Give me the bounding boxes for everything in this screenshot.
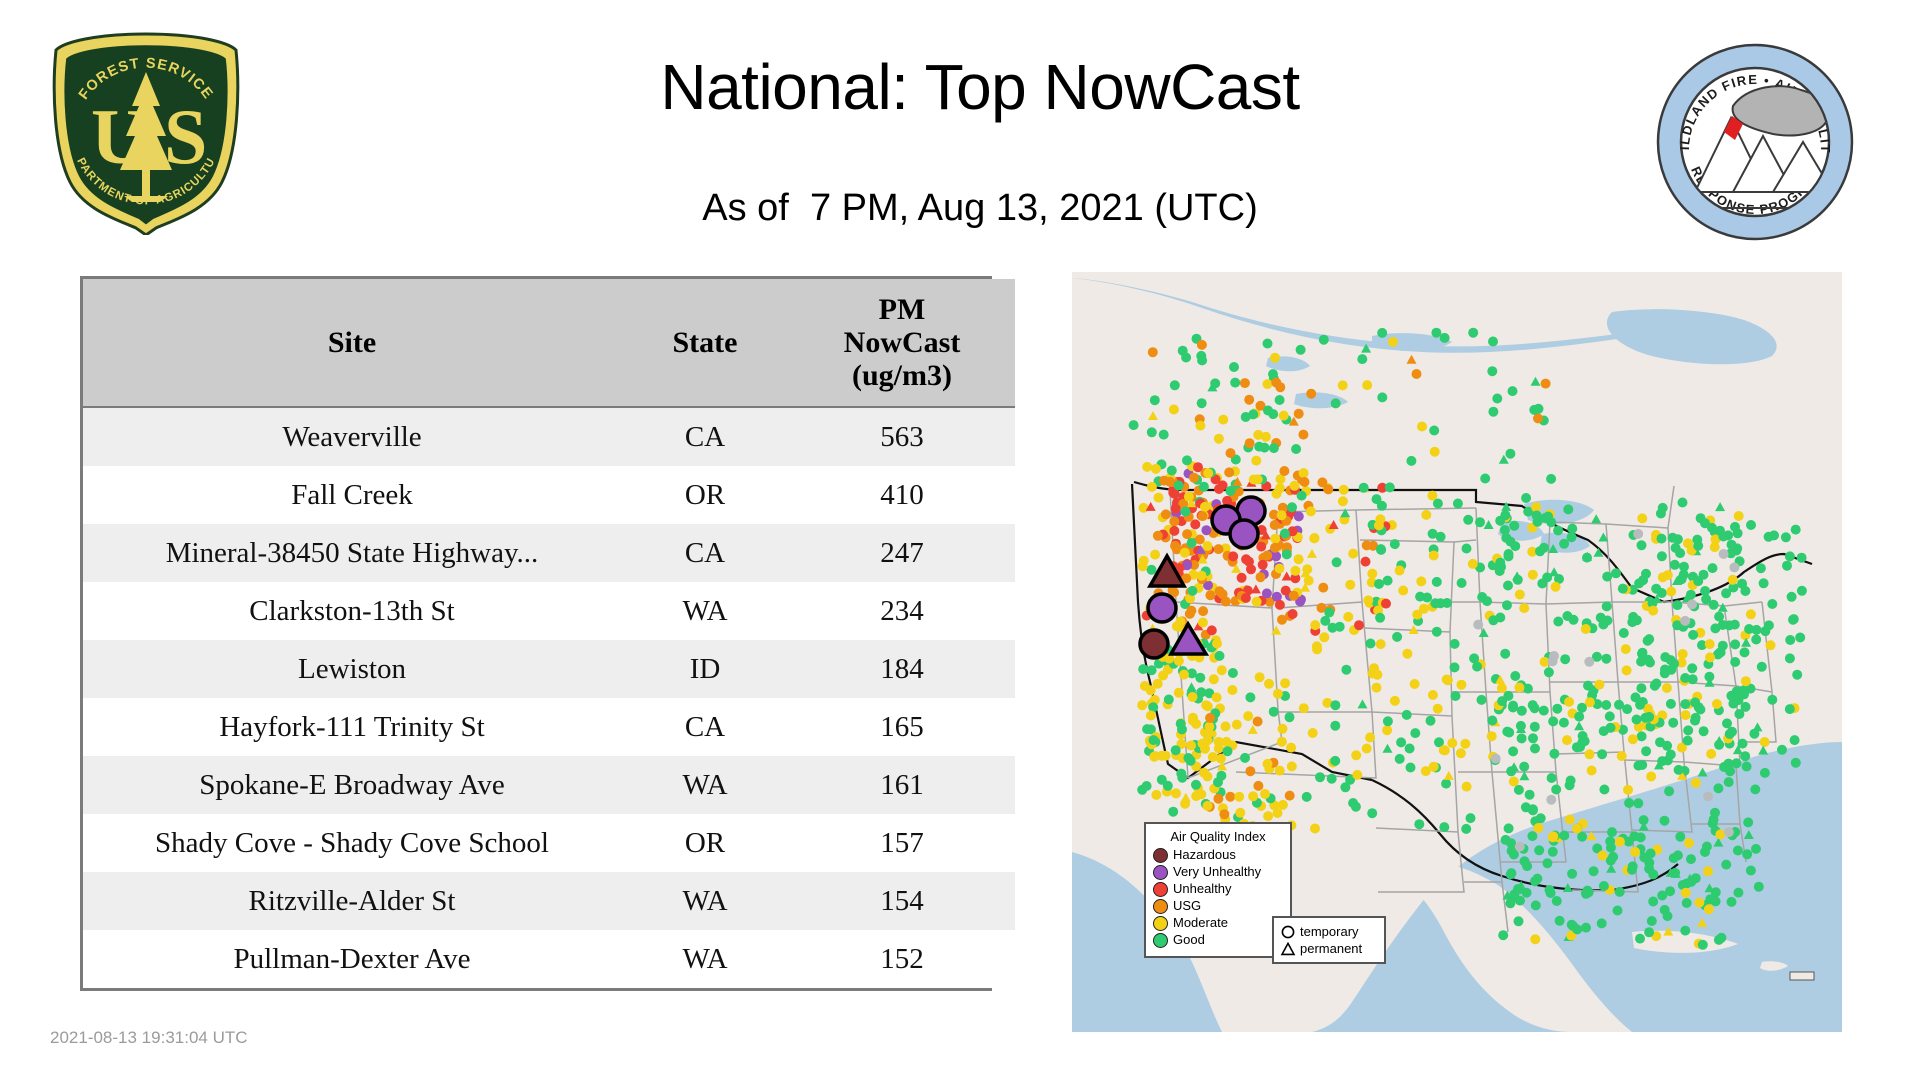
monitor-dot [1668,718,1678,728]
monitor-dot [1256,542,1266,552]
monitor-dot [1186,741,1196,751]
monitor-dot [1648,897,1658,907]
monitor-dot [1713,783,1723,793]
monitor-dot [1487,366,1497,376]
monitor-dot [1559,831,1569,841]
monitor-dot-nodata [1549,651,1559,661]
monitor-dot [1264,679,1274,689]
monitor-dot [1277,510,1287,520]
monitor-dot [1376,545,1386,555]
monitor-dot [1673,534,1683,544]
monitor-dot [1197,571,1207,581]
monitor-dot [1514,683,1524,693]
monitor-dot [1174,688,1184,698]
monitor-dot [1287,761,1297,771]
monitor-dot [1646,772,1656,782]
monitor-dot [1641,569,1651,579]
monitor-dot [1477,592,1487,602]
monitor-dot [1159,430,1169,440]
cell-state: WA [621,756,789,814]
monitor-dot [1270,534,1280,544]
monitor-dot [1372,683,1382,693]
cell-state: CA [621,407,789,466]
cell-state: OR [621,814,789,872]
monitor-dot [1715,829,1725,839]
monitor-dot [1228,668,1238,678]
monitor-dot-nodata [1724,827,1734,837]
monitor-dot [1751,844,1761,854]
monitor-dot [1450,639,1460,649]
monitor-dot [1161,751,1171,761]
monitor-dot [1751,635,1761,645]
monitor-dot [1488,615,1498,625]
monitor-dot [1759,578,1769,588]
monitor-dot [1656,509,1666,519]
monitor-dot [1509,850,1519,860]
monitor-dot [1506,766,1516,776]
monitor-dot [1198,606,1208,616]
monitor-dot [1710,623,1720,633]
page-subtitle: As of 7 PM, Aug 13, 2021 (UTC) [420,185,1540,231]
monitor-dot [1777,745,1787,755]
monitor-dot [1255,672,1265,682]
table-row[interactable]: LewistonID184 [83,640,1015,698]
monitor-dot [1189,473,1199,483]
table-row[interactable]: Shady Cove - Shady Cove SchoolOR157 [83,814,1015,872]
monitor-dot [1500,510,1510,520]
monitor-dot [1263,811,1273,821]
monitor-dot [1456,748,1466,758]
monitor-dot [1637,513,1647,523]
monitor-dot [1534,845,1544,855]
monitor-dot [1505,898,1515,908]
cell-state: CA [621,524,789,582]
monitor-dot [1683,736,1693,746]
monitor-dot [1666,699,1676,709]
monitor-dot [1429,426,1439,436]
monitor-dot [1608,852,1618,862]
monitor-dot [1787,592,1797,602]
monitor-dot [1660,665,1670,675]
cell-site: Hayfork-111 Trinity St [83,698,621,756]
monitor-dot [1521,493,1531,503]
monitor-dot [1581,624,1591,634]
cell-state: ID [621,640,789,698]
monitor-dot [1530,934,1540,944]
site-type-legend: temporary permanent [1272,916,1386,964]
monitor-dot [1184,492,1194,502]
monitor-dot [1248,409,1258,419]
monitor-dot [1693,541,1703,551]
monitor-dot [1426,716,1436,726]
aqi-color-swatch [1153,865,1168,880]
monitor-dot [1219,809,1229,819]
monitor-dot [1785,551,1795,561]
monitor-dot [1436,532,1446,542]
table-row[interactable]: Hayfork-111 Trinity StCA165 [83,698,1015,756]
monitor-dot [1488,337,1498,347]
monitor-dot [1330,721,1340,731]
monitor-dot [1675,548,1685,558]
legend-label-permanent: permanent [1300,940,1362,957]
monitor-dot [1147,665,1157,675]
legend-row-temporary: temporary [1280,923,1378,940]
monitor-dot [1527,831,1537,841]
monitor-dot [1730,657,1740,667]
monitor-dot [1223,746,1233,756]
monitor-dot [1275,766,1285,776]
monitor-dot [1785,635,1795,645]
monitor-dot [1270,353,1280,363]
monitor-dot [1204,728,1214,738]
cell-site: Lewiston [83,640,621,698]
monitor-dot [1151,790,1161,800]
monitor-dot [1447,738,1457,748]
monitor-dot [1453,499,1463,509]
monitor-dot [1279,411,1289,421]
monitor-dot [1615,837,1625,847]
monitor-dot [1262,551,1272,561]
monitor-dot [1270,520,1280,530]
monitor-dot-nodata [1491,754,1501,764]
column-header-state: State [621,279,789,407]
cell-value: 247 [789,524,1015,582]
monitor-dot [1795,633,1805,643]
monitor-dot [1227,685,1237,695]
monitor-dot [1200,502,1210,512]
monitor-dot [1180,507,1190,517]
monitor-dot [1280,678,1290,688]
column-header-line-2: NowCast [844,326,961,359]
monitor-dot [1488,407,1498,417]
monitor-dot [1477,695,1487,705]
monitor-dot [1209,674,1219,684]
cell-value: 154 [789,872,1015,930]
monitor-dot [1539,706,1549,716]
us-air-quality-map[interactable]: Air Quality Index HazardousVery Unhealth… [1072,272,1842,1032]
monitor-dot [1647,916,1657,926]
monitor-dot [1176,719,1186,729]
monitor-dot [1497,683,1507,693]
monitor-dot [1666,587,1676,597]
monitor-dot [1660,816,1670,826]
cell-value: 161 [789,756,1015,814]
table-row[interactable]: Spokane-E Broadway AveWA161 [83,756,1015,814]
monitor-dot [1203,541,1213,551]
aqi-legend-label: Hazardous [1173,847,1236,863]
monitor-dot [1742,762,1752,772]
monitor-dot [1637,731,1647,741]
monitor-dot [1549,749,1559,759]
monitor-dot [1698,940,1708,950]
monitor-dot [1730,522,1740,532]
cell-site: Mineral-38450 State Highway... [83,524,621,582]
monitor-dot [1196,351,1206,361]
monitor-dot [1637,540,1647,550]
monitor-dot [1451,691,1461,701]
monitor-dot [1241,593,1251,603]
monitor-dot [1728,575,1738,585]
monitor-dot [1599,785,1609,795]
monitor-dot [1197,340,1207,350]
monitor-dot [1252,597,1262,607]
monitor-dot [1725,729,1735,739]
monitor-dot [1530,722,1540,732]
monitor-dot [1195,421,1205,431]
monitor-dot [1510,671,1520,681]
aqi-legend-label: USG [1173,898,1201,914]
table-row[interactable]: Pullman-Dexter AveWA152 [83,930,1015,988]
monitor-dot [1213,794,1223,804]
table-row[interactable]: Clarkston-13th StWA234 [83,582,1015,640]
cell-state: WA [621,872,789,930]
monitor-dot [1187,538,1197,548]
table-row[interactable]: Ritzville-Alder StWA154 [83,872,1015,930]
monitor-dot [1181,353,1191,363]
monitor-dot [1368,669,1378,679]
monitor-dot [1214,737,1224,747]
monitor-dot [1501,835,1511,845]
monitor-dot [1730,639,1740,649]
monitor-dot [1767,695,1777,705]
monitor-dot [1581,889,1591,899]
monitor-dot [1415,592,1425,602]
monitor-dot [1226,448,1236,458]
monitor-dot [1746,520,1756,530]
monitor-dot [1560,654,1570,664]
monitor-dot [1154,493,1164,503]
monitor-dot [1390,696,1400,706]
monitor-dot [1203,701,1213,711]
aqi-legend-title: Air Quality Index [1153,829,1283,844]
column-header-site: Site [83,279,621,407]
cell-state: WA [621,930,789,988]
monitor-dot [1611,568,1621,578]
monitor-dot [1210,378,1220,388]
monitor-dot [1151,464,1161,474]
monitor-dot [1500,525,1510,535]
monitor-dot [1644,712,1654,722]
monitor-dot [1299,468,1309,478]
monitor-dot [1572,742,1582,752]
cell-site: Spokane-E Broadway Ave [83,756,621,814]
monitor-dot [1385,482,1395,492]
aqi-legend: Air Quality Index HazardousVery Unhealth… [1144,822,1292,958]
monitor-dot [1367,808,1377,818]
monitor-dot [1657,534,1667,544]
monitor-dot [1797,586,1807,596]
table-row[interactable]: Fall CreekOR410 [83,466,1015,524]
table-row[interactable]: Mineral-38450 State Highway...CA247 [83,524,1015,582]
monitor-dot [1269,443,1279,453]
monitor-dot [1383,716,1393,726]
monitor-dot [1750,784,1760,794]
aqi-legend-row: Hazardous [1153,847,1283,863]
monitor-dot [1302,564,1312,574]
monitor-dot [1670,560,1680,570]
monitor-dot [1606,843,1616,853]
monitor-dot [1585,749,1595,759]
cell-value: 184 [789,640,1015,698]
monitor-dot [1504,823,1514,833]
monitor-dot [1572,824,1582,834]
monitor-dot [1650,681,1660,691]
aqi-legend-label: Very Unhealthy [1173,864,1261,880]
monitor-dot [1730,620,1740,630]
monitor-dot [1460,739,1470,749]
monitor-dot [1348,549,1358,559]
monitor-dot [1332,557,1342,567]
monitor-dot [1363,595,1373,605]
monitor-dot [1351,750,1361,760]
triangle-outline-icon [1280,941,1296,957]
monitor-dot [1285,712,1295,722]
monitor-dot [1146,711,1156,721]
monitor-dot [1205,590,1215,600]
monitor-dot [1308,728,1318,738]
monitor-dot [1310,620,1320,630]
usfs-shield-logo: FOREST SERVICE DEPARTMENT OF AGRICULTURE… [46,30,246,235]
monitor-dot [1450,662,1460,672]
monitor-dot [1330,756,1340,766]
monitor-dot [1300,477,1310,487]
monitor-dot [1505,449,1515,459]
monitor-dot [1306,506,1316,516]
monitor-dot [1290,481,1300,491]
monitor-dot [1286,743,1296,753]
monitor-dot [1754,882,1764,892]
monitor-dot [1203,801,1213,811]
legend-row-permanent: permanent [1280,940,1378,957]
monitor-dot [1679,562,1689,572]
monitor-dot [1678,649,1688,659]
monitor-dot [1410,679,1420,689]
monitor-dot [1613,906,1623,916]
monitor-dot [1502,727,1512,737]
monitor-dot-nodata [1687,599,1697,609]
monitor-dot [1406,763,1416,773]
monitor-dot [1495,566,1505,576]
monitor-dot [1365,732,1375,742]
monitor-dot [1525,790,1535,800]
highlight-site-circle [1148,594,1176,622]
monitor-dot-nodata [1719,549,1729,559]
monitor-dot [1514,884,1524,894]
monitor-dot [1764,620,1774,630]
monitor-dot [1502,600,1512,610]
aqi-legend-row: USG [1153,898,1283,914]
monitor-dot [1521,802,1531,812]
monitor-dot [1150,395,1160,405]
monitor-dot [1506,868,1516,878]
monitor-dot [1492,394,1502,404]
monitor-dot [1704,904,1714,914]
monitor-dot [1644,634,1654,644]
highlight-site-circle [1230,520,1258,548]
monitor-dot [1354,620,1364,630]
monitor-dot [1741,702,1751,712]
monitor-dot [1662,683,1672,693]
monitor-dot [1341,665,1351,675]
monitor-dot [1546,888,1556,898]
monitor-dot [1348,798,1358,808]
monitor-dot [1396,737,1406,747]
monitor-dot [1500,649,1510,659]
monitor-dot [1215,651,1225,661]
monitor-dot [1548,831,1558,841]
monitor-dot [1472,662,1482,672]
monitor-dot [1200,744,1210,754]
monitor-dot [1688,630,1698,640]
monitor-dot [1739,689,1749,699]
monitor-dot [1766,640,1776,650]
monitor-dot [1405,744,1415,754]
table-row[interactable]: WeavervilleCA563 [83,407,1015,466]
monitor-dot [1406,456,1416,466]
monitor-dot [1674,765,1684,775]
highlight-site-circle [1140,630,1168,658]
monitor-dot [1497,696,1507,706]
monitor-dot [1271,378,1281,388]
monitor-dot [1212,692,1222,702]
monitor-dot [1205,713,1215,723]
monitor-dot [1248,791,1258,801]
monitor-dot [1487,731,1497,741]
monitor-dot [1432,627,1442,637]
monitor-dot [1635,700,1645,710]
monitor-dot [1427,491,1437,501]
monitor-dot [1345,580,1355,590]
monitor-dot [1629,831,1639,841]
monitor-dot [1279,466,1289,476]
monitor-dot [1703,866,1713,876]
cell-value: 157 [789,814,1015,872]
monitor-dot [1721,860,1731,870]
top-nowcast-table: Site State PM NowCast (ug/m3) Weavervill… [80,276,992,991]
monitor-dot [1660,652,1670,662]
monitor-dot [1269,707,1279,717]
footer-timestamp: 2021-08-13 19:31:04 UTC [50,1028,248,1048]
monitor-dot [1367,569,1377,579]
monitor-dot [1688,674,1698,684]
monitor-dot [1234,792,1244,802]
cell-state: CA [621,698,789,756]
monitor-dot [1318,583,1328,593]
monitor-dot [1433,704,1443,714]
monitor-dot [1664,786,1674,796]
monitor-dot [1419,604,1429,614]
monitor-dot [1338,380,1348,390]
column-header-pm-nowcast: PM NowCast (ug/m3) [789,279,1015,407]
monitor-dot [1790,735,1800,745]
monitor-dot [1523,684,1533,694]
monitor-dot [1533,823,1543,833]
aqi-legend-label: Unhealthy [1173,881,1232,897]
monitor-dot [1414,819,1424,829]
page-title: National: Top NowCast [420,50,1540,124]
monitor-dot [1224,467,1234,477]
monitor-dot [1618,584,1628,594]
monitor-dot [1290,566,1300,576]
monitor-dot-nodata [1680,616,1690,626]
aqi-color-swatch [1153,848,1168,863]
monitor-dot [1297,491,1307,501]
monitor-dot [1565,815,1575,825]
monitor-dot [1508,746,1518,756]
monitor-dot [1714,612,1724,622]
monitor-dot [1699,726,1709,736]
monitor-dot-nodata [1515,842,1525,852]
